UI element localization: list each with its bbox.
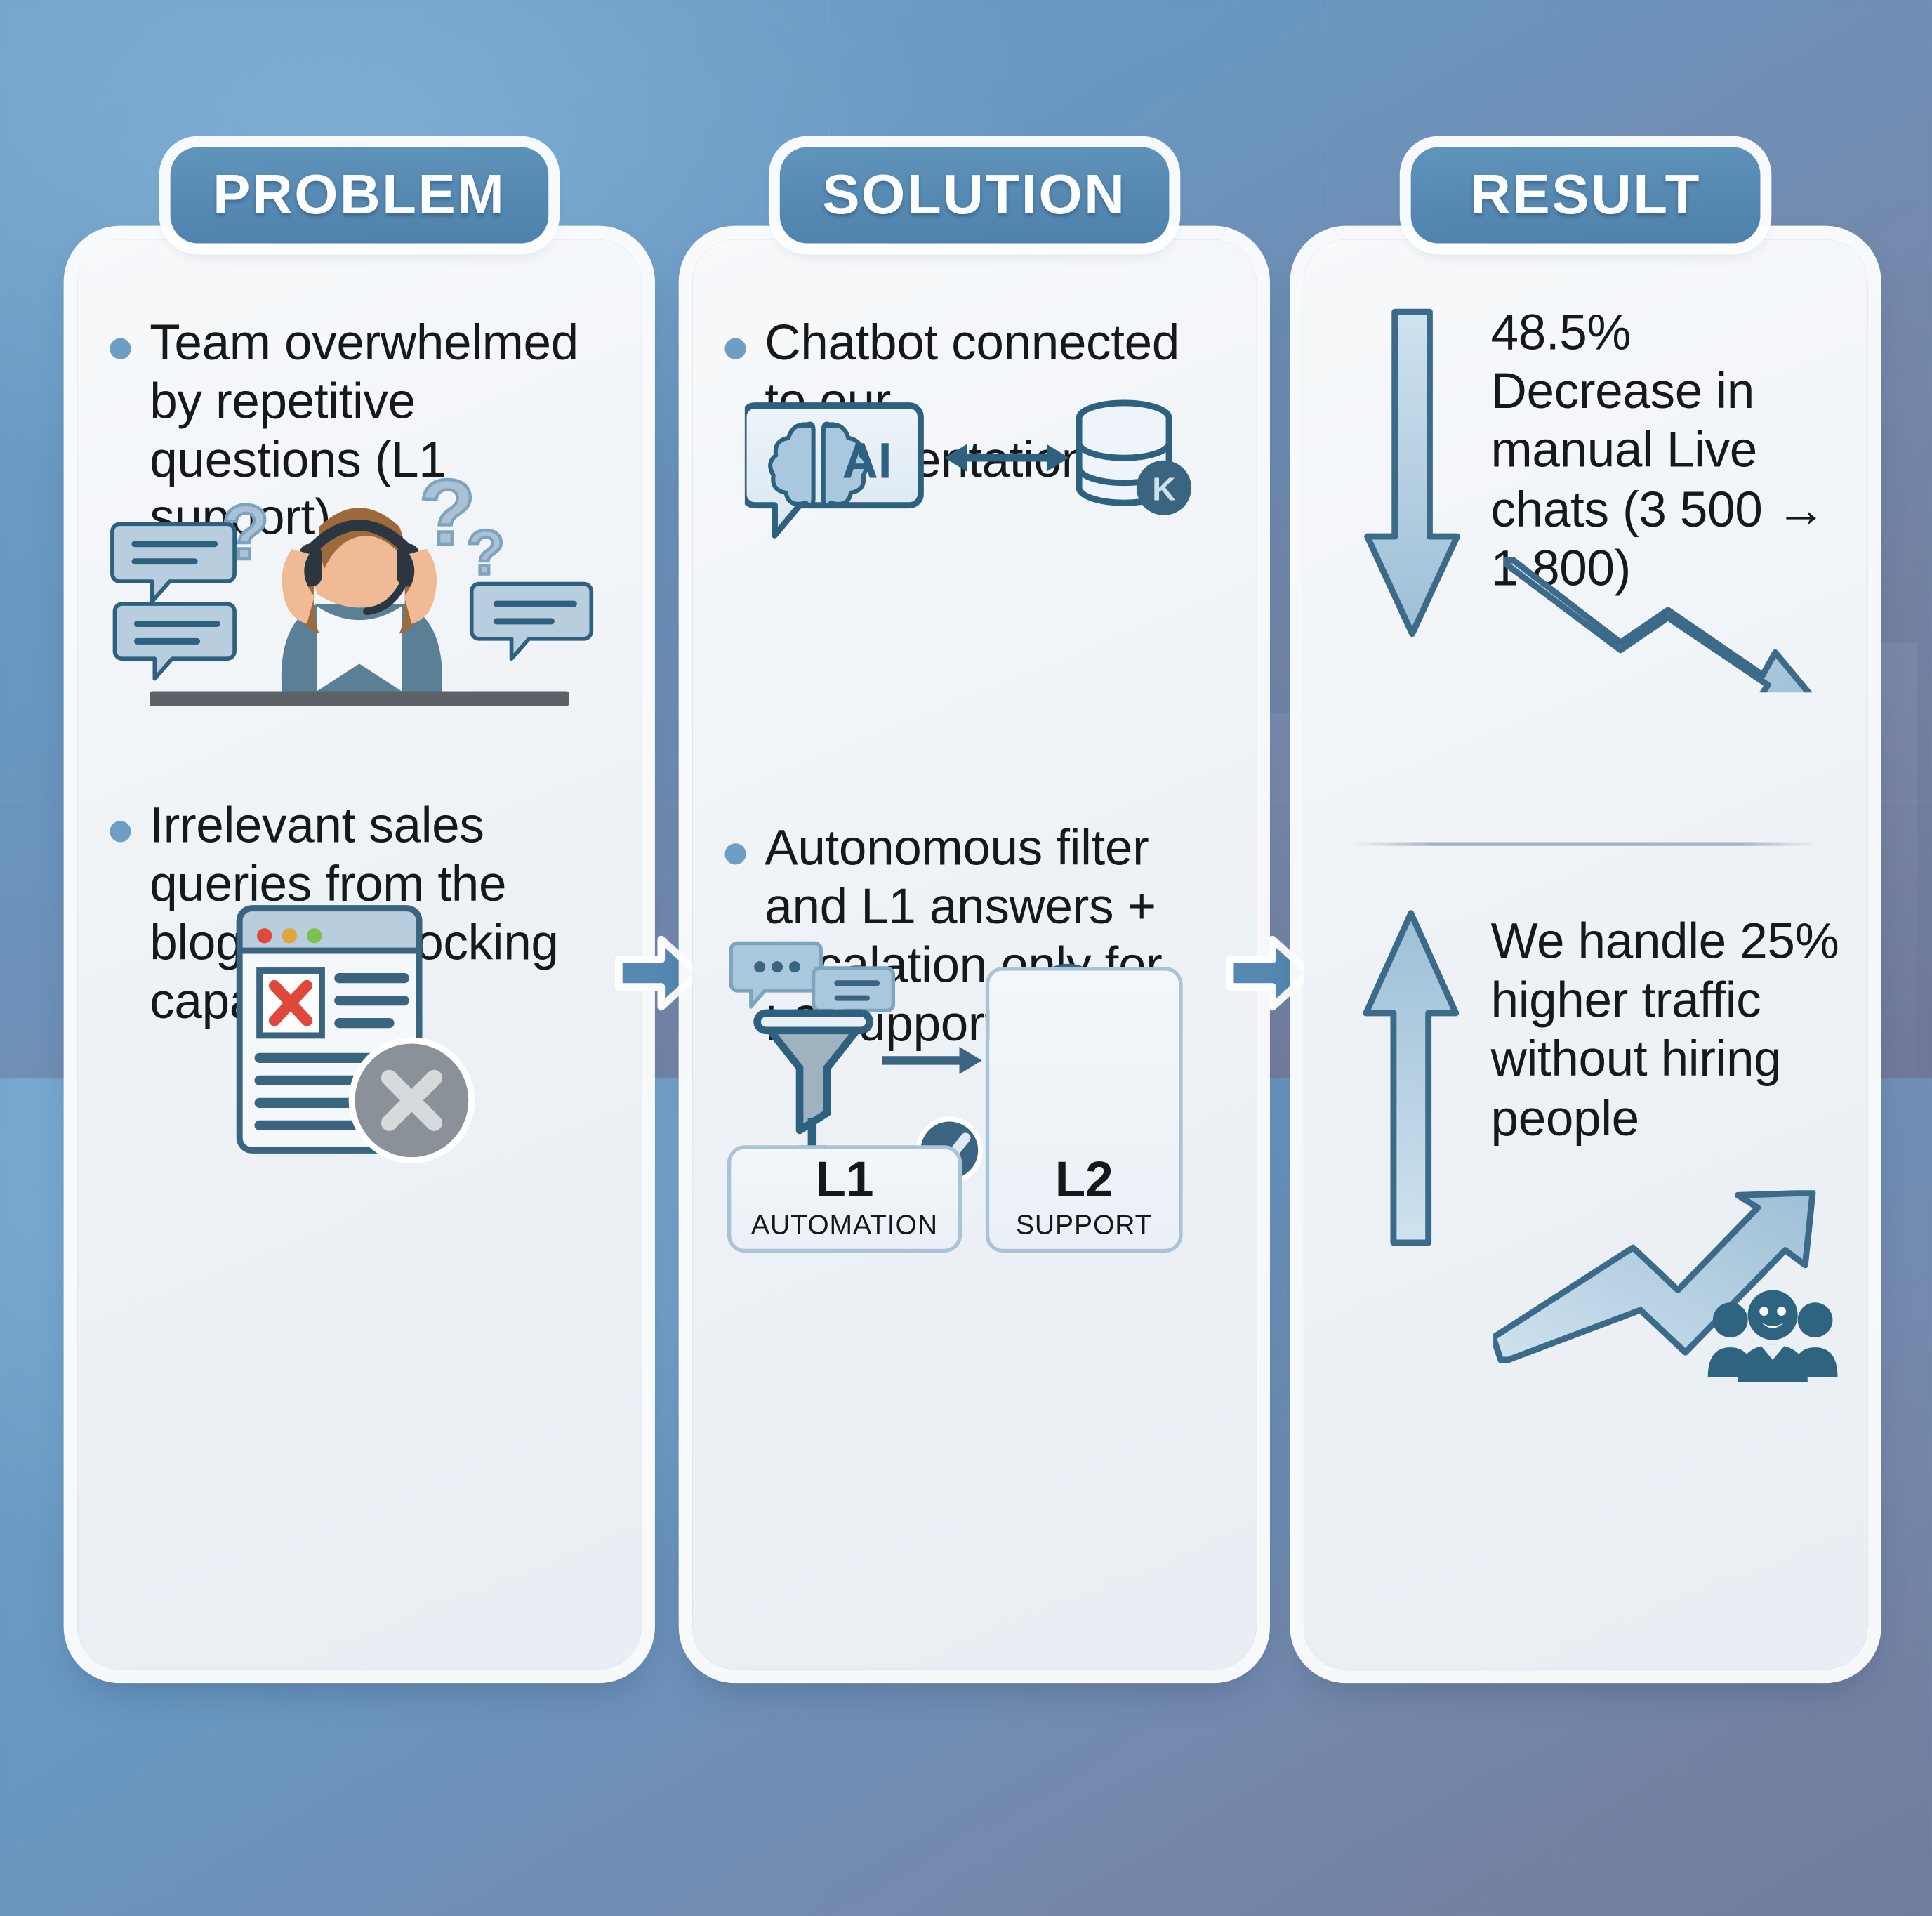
- panel-result-body: 48.5% Decrease in manual Live chats (3 5…: [1304, 239, 1867, 1669]
- declining-trend-arrow-icon: [1503, 543, 1830, 692]
- panel-problem: PROBLEM Team overwhelmed by repetitive q…: [77, 239, 641, 1669]
- filter-funnel-icon: [757, 1013, 870, 1130]
- bullet-dot-icon: [724, 338, 746, 359]
- panel-problem-title: PROBLEM: [171, 147, 548, 244]
- panel-result: RESULT 48.5% Decrease in manual Live cha…: [1304, 239, 1867, 1669]
- panel-problem-body: Team overwhelmed by repetitive questions…: [77, 239, 641, 1669]
- svg-text:K: K: [1152, 471, 1175, 508]
- ai-chat-bubble-icon: AI: [745, 406, 921, 536]
- blog-page-rejected-illustration: [222, 901, 487, 1170]
- panel-solution-title: SOLUTION: [780, 147, 1169, 244]
- result-divider: [1351, 842, 1820, 845]
- down-arrow-icon: [1360, 305, 1464, 642]
- ai-to-knowledgebase-diagram: AI K: [745, 395, 1194, 545]
- people-group-icon: [1705, 1288, 1840, 1385]
- svg-text:?: ?: [222, 489, 269, 576]
- panel-solution: SOLUTION Chatbot connected to our docume…: [692, 239, 1256, 1669]
- panel-result-title: RESULT: [1411, 147, 1761, 244]
- l1-sublabel: AUTOMATION: [751, 1211, 938, 1238]
- panel-solution-body: Chatbot connected to our documentation: [692, 239, 1256, 1669]
- overwhelmed-agent-illustration: ? ? ?: [107, 472, 611, 709]
- l1-label: L1: [816, 1156, 874, 1205]
- capacity-metric-text: We handle 25% higher traffic without hir…: [1491, 913, 1846, 1149]
- bullet-dot-icon: [110, 821, 131, 843]
- l2-support-box: L2 SUPPORT: [986, 967, 1183, 1253]
- bullet-dot-icon: [724, 844, 746, 865]
- svg-text:AI: AI: [842, 434, 892, 489]
- l2-label: L2: [1055, 1156, 1113, 1205]
- double-arrow-icon: [944, 444, 1069, 472]
- infographic-stage: PROBLEM Team overwhelmed by repetitive q…: [0, 0, 1932, 1916]
- l2-sublabel: SUPPORT: [1016, 1211, 1152, 1238]
- svg-text:?: ?: [467, 517, 505, 587]
- up-arrow-icon: [1356, 909, 1466, 1248]
- l1-automation-box: L1 AUTOMATION: [727, 1145, 962, 1253]
- arrow-right-icon: [882, 1047, 981, 1074]
- bullet-dot-icon: [110, 338, 131, 359]
